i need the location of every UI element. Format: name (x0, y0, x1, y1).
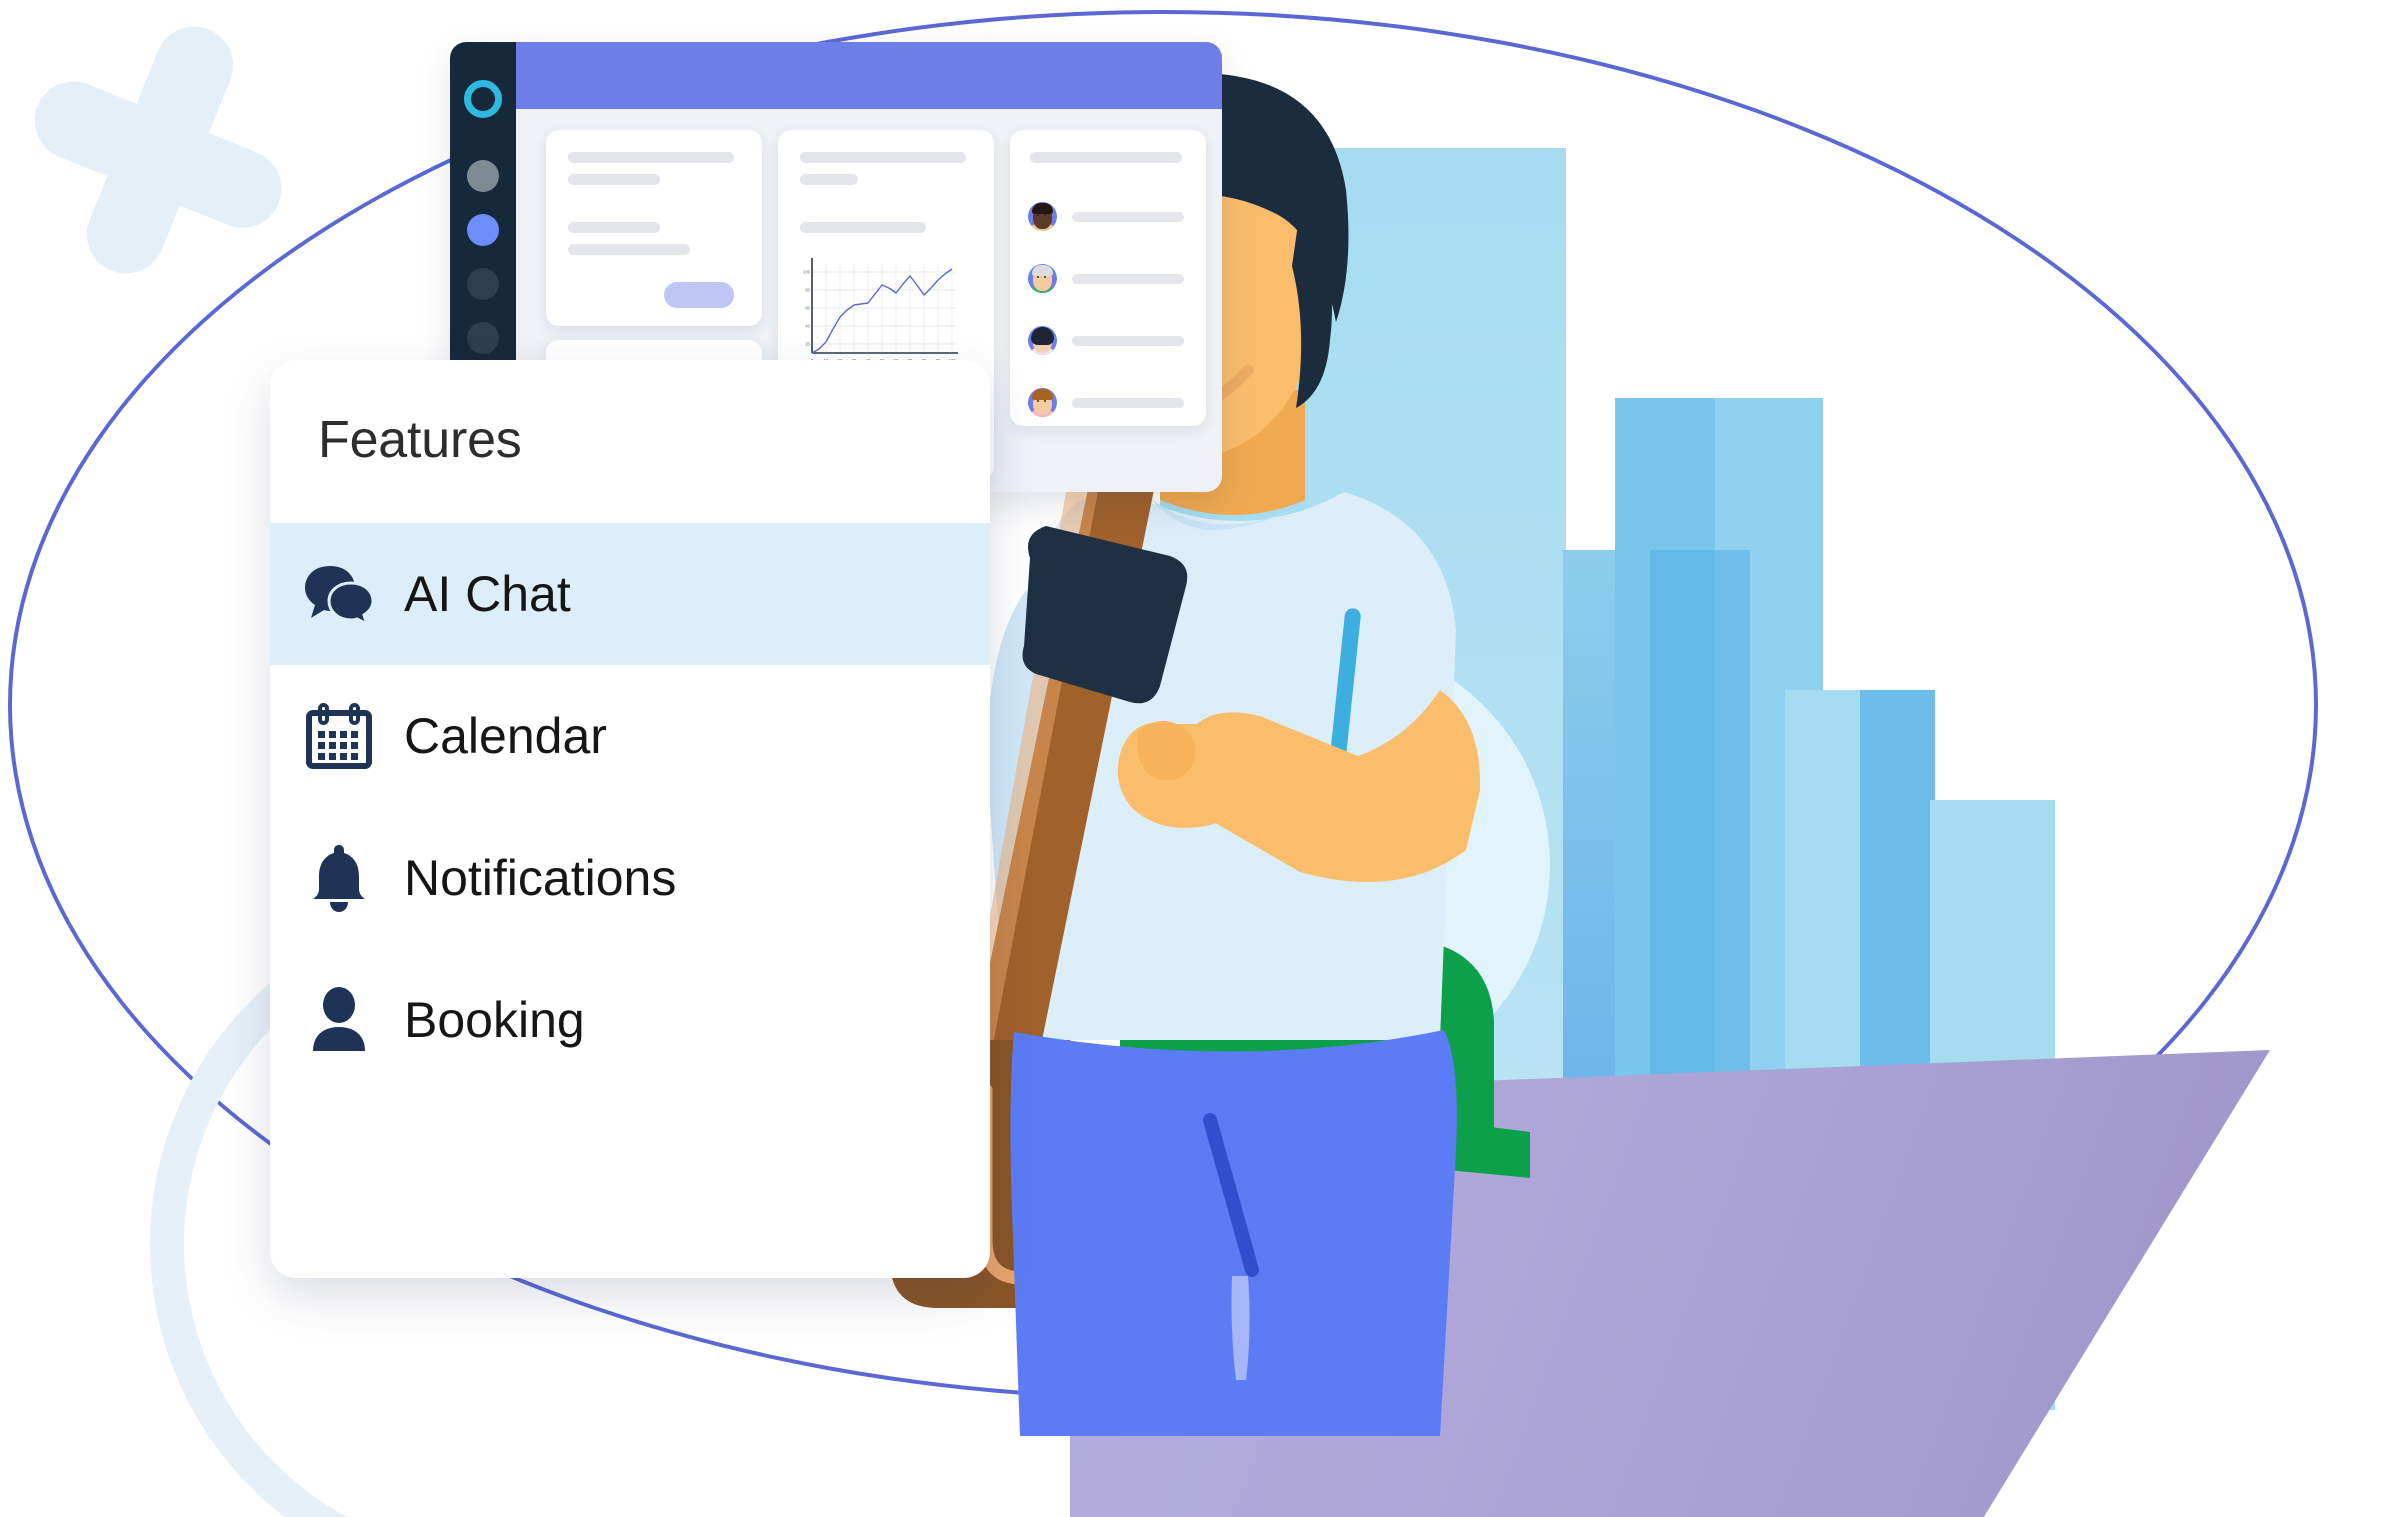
svg-text:80: 80 (805, 288, 810, 293)
avatar[interactable] (1028, 388, 1057, 417)
chat-bubbles-icon (302, 563, 376, 625)
hero-scene (1160, 0, 2400, 1440)
bell-icon (302, 843, 376, 913)
svg-text:100: 100 (803, 270, 811, 275)
summary-card[interactable] (546, 130, 762, 326)
summary-card-action-button[interactable] (664, 282, 734, 308)
illustration-canvas: 100 80 60 40 20 0 10 20 30 40 50 60 (0, 0, 2400, 1517)
panel-title: Features (318, 410, 522, 470)
svg-text:20: 20 (805, 342, 810, 347)
feature-label: Booking (404, 991, 585, 1049)
feature-item-booking[interactable]: Booking (270, 949, 990, 1091)
features-panel[interactable]: Features AI Chat (270, 360, 990, 1278)
calendar-icon (302, 703, 376, 769)
line-chart: 100 80 60 40 20 0 10 20 30 40 50 60 (796, 256, 960, 374)
nav-dot-2-active[interactable] (467, 214, 499, 246)
avatar[interactable] (1028, 326, 1057, 355)
svg-text:40: 40 (805, 324, 810, 329)
svg-text:60: 60 (805, 306, 810, 311)
people-card[interactable] (1010, 130, 1206, 426)
nav-dot-3[interactable] (467, 268, 499, 300)
user-icon (302, 987, 376, 1053)
dashboard-topbar (516, 42, 1222, 109)
feature-label: Notifications (404, 849, 676, 907)
avatar[interactable] (1028, 264, 1057, 293)
feature-item-notifications[interactable]: Notifications (270, 807, 990, 949)
feature-item-calendar[interactable]: Calendar (270, 665, 990, 807)
avatar[interactable] (1028, 202, 1057, 231)
nav-dot-4[interactable] (467, 322, 499, 354)
nav-dot-1[interactable] (467, 160, 499, 192)
feature-label: Calendar (404, 707, 607, 765)
feature-item-ai-chat[interactable]: AI Chat (270, 523, 990, 665)
circle-ring-logo-icon (464, 80, 502, 118)
feature-label: AI Chat (404, 565, 571, 623)
